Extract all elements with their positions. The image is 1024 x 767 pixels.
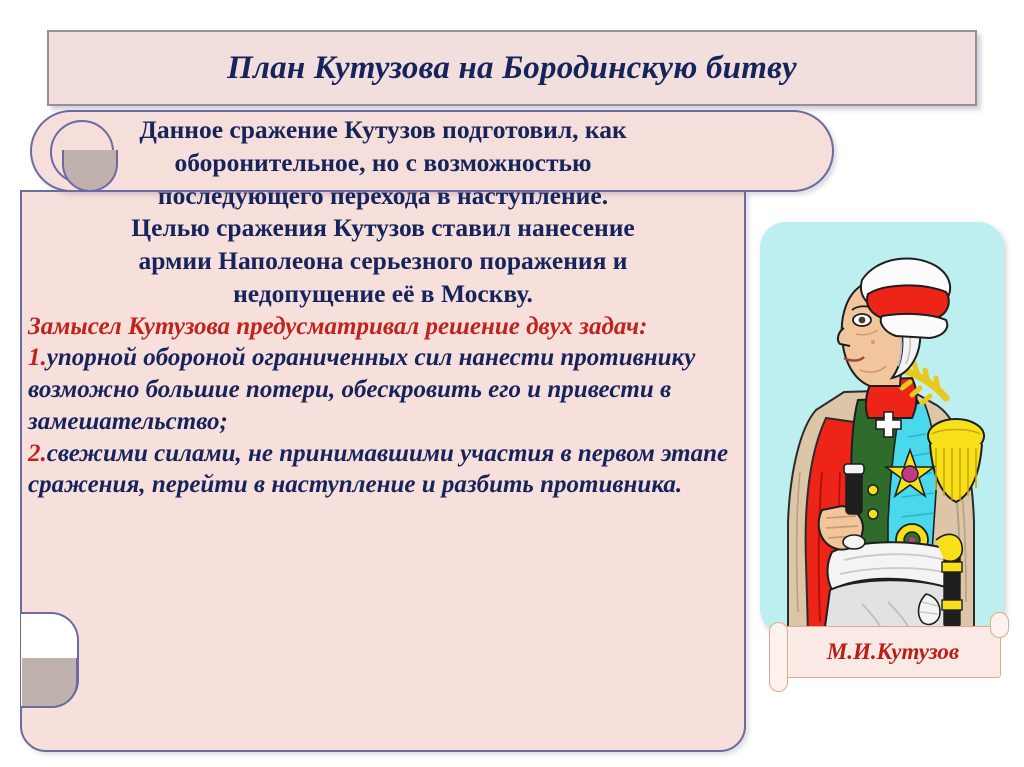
scroll-curl-left-icon bbox=[769, 622, 788, 692]
intro-line-5: армии Наполеона серьезного поражения и bbox=[24, 245, 742, 278]
task-1-number: 1. bbox=[28, 344, 47, 371]
intro-line-4: Целью сражения Кутузов ставил нанесение bbox=[24, 212, 742, 245]
page-title: План Кутузова на Бородинскую битву bbox=[227, 51, 797, 86]
intro-line-6: недопущение её в Москву. bbox=[24, 278, 742, 311]
plan-heading: Замысел Кутузова предусматривал решение … bbox=[24, 311, 742, 343]
kutuzov-illustration-icon bbox=[760, 222, 1004, 634]
intro-line-1: Данное сражение Кутузов подготовил, как bbox=[24, 114, 742, 147]
slide-title-bar: План Кутузова на Бородинскую битву bbox=[47, 30, 977, 106]
task-item-1: 1.упорной обороной ограниченных сил нане… bbox=[24, 342, 742, 437]
scroll-curl-right-icon bbox=[990, 612, 1009, 638]
portrait-caption: М.И.Кутузов bbox=[821, 639, 959, 665]
presentation-slide: План Кутузова на Бородинскую битву Данно… bbox=[0, 0, 1024, 767]
slide-text-content: Данное сражение Кутузов подготовил, как … bbox=[24, 114, 742, 750]
task-1-text: упорной обороной ограниченных сил нанест… bbox=[28, 344, 695, 435]
task-item-2: 2.свежими силами, не принимавшими участи… bbox=[24, 438, 742, 502]
task-2-number: 2. bbox=[28, 440, 47, 467]
intro-line-2: оборонительное, но с возможностью bbox=[24, 147, 742, 180]
portrait-caption-banner: М.И.Кутузов bbox=[757, 622, 1015, 690]
caption-paper: М.И.Кутузов bbox=[779, 626, 1001, 678]
task-2-text: свежими силами, не принимавшими участия … bbox=[28, 440, 728, 499]
intro-line-3: последующего перехода в наступление. bbox=[24, 180, 742, 213]
kutuzov-portrait-frame bbox=[760, 222, 1004, 634]
